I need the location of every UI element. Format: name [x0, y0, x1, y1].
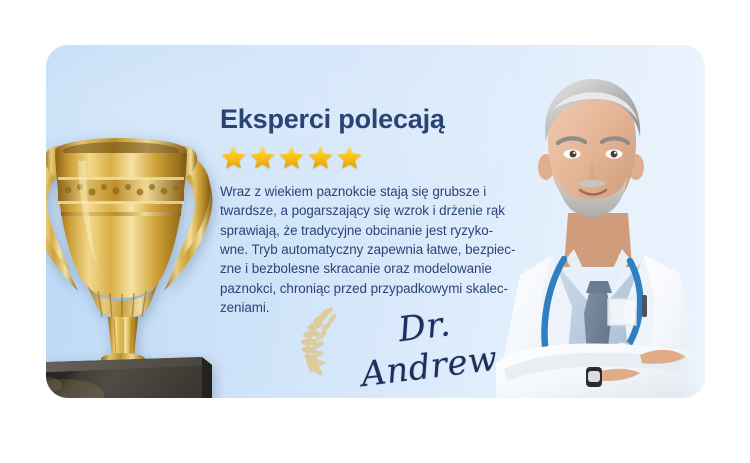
- star-icon: [307, 144, 334, 170]
- doctor-portrait-image: [490, 63, 705, 398]
- star-icon: [249, 144, 276, 170]
- gold-trophy-image: [46, 95, 236, 398]
- card-right-fade: [679, 45, 705, 398]
- star-icon: [278, 144, 305, 170]
- screenshot-root: Eksperci polecają Wraz z wiekiem: [0, 0, 750, 463]
- star-icon: [220, 144, 247, 170]
- laurel-branch-icon: [296, 303, 340, 375]
- star-icon: [336, 144, 363, 170]
- expert-recommendation-card: Eksperci polecają Wraz z wiekiem: [46, 45, 705, 398]
